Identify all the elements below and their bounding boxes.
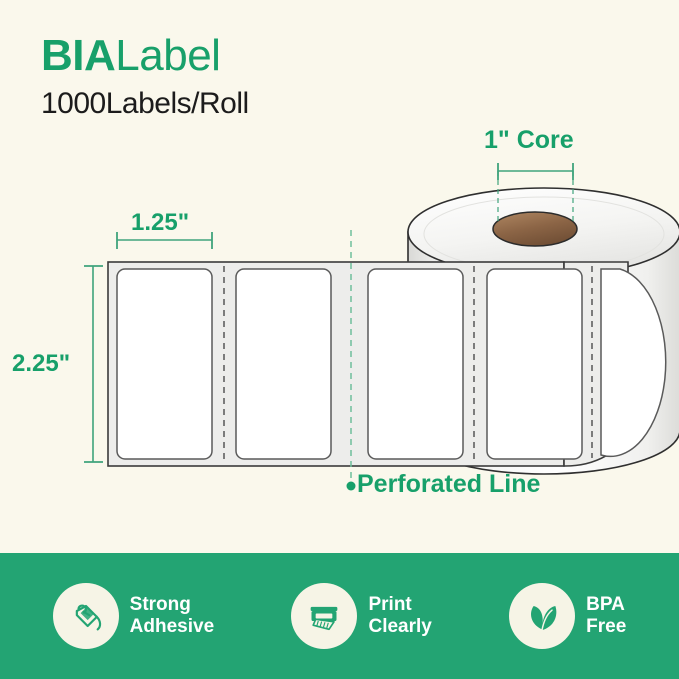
feature-label: PrintClearly xyxy=(368,594,431,638)
label-face xyxy=(368,269,463,459)
perforated-line-text: Perforated Line xyxy=(357,470,540,499)
feature-icon-badge xyxy=(53,583,119,649)
printer-icon xyxy=(304,596,344,636)
dimension-label-height xyxy=(84,266,103,462)
label-face xyxy=(236,269,331,459)
label-face xyxy=(117,269,212,459)
label-width-dimension-text: 1.25" xyxy=(131,209,189,237)
roll-core-hole xyxy=(493,212,577,246)
label-face xyxy=(487,269,582,459)
label-height-dimension-text: 2.25" xyxy=(12,350,70,378)
feature-label-line2: Free xyxy=(586,616,626,637)
feature-band: StrongAdhesive xyxy=(0,553,679,679)
feature-label-line1: Strong xyxy=(130,594,191,615)
product-infographic: BIALabel 1000Labels/Roll xyxy=(0,0,679,679)
label-roll-diagram: 1.25" 2.25" 1" Core Perforated Line xyxy=(0,0,679,553)
callout-dot xyxy=(347,482,356,491)
feature-icon-badge xyxy=(291,583,357,649)
feature-print-clearly: PrintClearly xyxy=(291,583,431,649)
feature-label-line1: BPA xyxy=(586,594,625,615)
feature-label-line1: Print xyxy=(368,594,411,615)
feature-icon-badge xyxy=(509,583,575,649)
core-dimension-text: 1" Core xyxy=(484,126,574,155)
feature-label-line2: Adhesive xyxy=(130,616,214,637)
feature-bpa-free: BPAFree xyxy=(509,583,626,649)
label-strip xyxy=(108,262,666,466)
glue-bottle-icon xyxy=(66,596,106,636)
leaves-icon xyxy=(522,596,562,636)
feature-label-line2: Clearly xyxy=(368,616,431,637)
feature-label: StrongAdhesive xyxy=(130,594,214,638)
feature-strong-adhesive: StrongAdhesive xyxy=(53,583,214,649)
feature-label: BPAFree xyxy=(586,594,626,638)
